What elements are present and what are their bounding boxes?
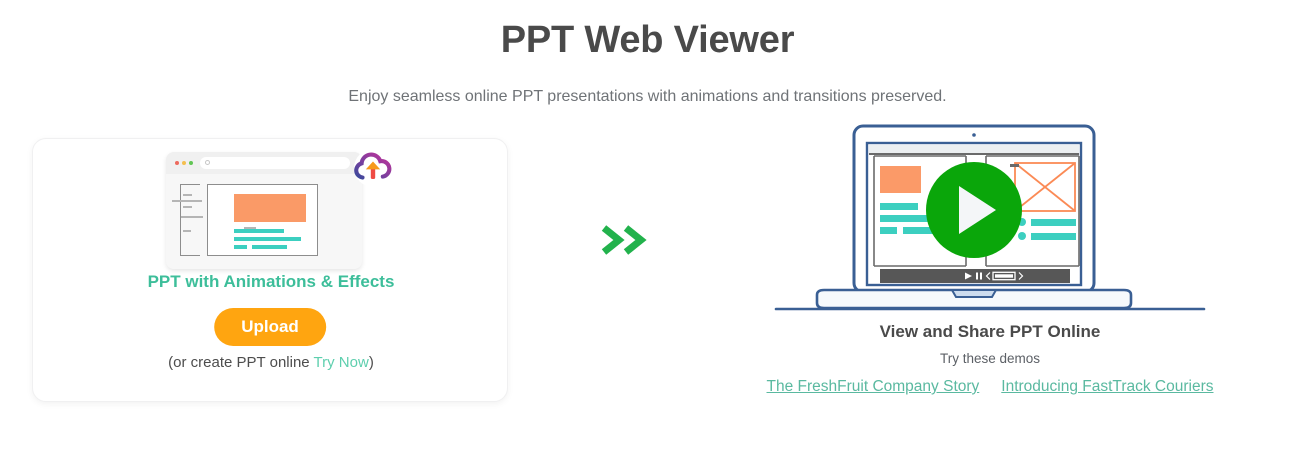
note-prefix: (or create PPT online	[168, 354, 313, 371]
wireframe-tick	[172, 200, 202, 202]
laptop-with-play-button-illustration	[770, 122, 1210, 317]
wireframe-text-line	[252, 245, 287, 249]
browser-reload-icon	[205, 160, 210, 165]
browser-content	[166, 174, 362, 269]
browser-maximize-dot-icon	[189, 161, 193, 165]
cloud-upload-icon	[349, 147, 397, 191]
browser-minimize-dot-icon	[182, 161, 186, 165]
demo-links: The FreshFruit Company Story Introducing…	[700, 378, 1280, 396]
note-suffix: )	[369, 354, 374, 371]
wireframe-tick	[183, 206, 192, 208]
page-title: PPT Web Viewer	[0, 18, 1295, 64]
page-subtitle: Enjoy seamless online PPT presentations …	[0, 86, 1295, 108]
viewer-subtext: Try these demos	[700, 351, 1280, 366]
viewer-heading: View and Share PPT Online	[700, 322, 1280, 342]
slide-image-block	[880, 166, 921, 193]
wireframe-tick	[181, 216, 203, 218]
player-control-bar	[880, 269, 1070, 283]
wireframe-text-line	[234, 245, 247, 249]
viewer-section: View and Share PPT Online Try these demo…	[700, 122, 1280, 412]
create-online-note: (or create PPT online Try Now)	[33, 354, 509, 371]
wireframe-tick	[183, 194, 192, 196]
pause-icon	[976, 273, 978, 280]
wireframe-tick	[183, 230, 191, 232]
try-now-link[interactable]: Try Now	[314, 354, 369, 371]
wireframe-text-line	[234, 237, 301, 241]
browser-frame	[166, 152, 362, 269]
browser-close-dot-icon	[175, 161, 179, 165]
upload-card: PPT with Animations & Effects Upload (or…	[32, 138, 508, 402]
double-chevron-right-icon	[600, 224, 652, 256]
browser-topbar	[166, 152, 362, 174]
wireframe-image-block	[234, 194, 306, 222]
upload-card-heading: PPT with Animations & Effects	[33, 272, 509, 292]
wireframe-slide	[207, 184, 318, 256]
upload-button[interactable]: Upload	[214, 308, 326, 346]
demo-link-freshfruit[interactable]: The FreshFruit Company Story	[767, 378, 980, 396]
wireframe-text-line	[234, 229, 284, 233]
browser-window-illustration	[166, 152, 362, 269]
browser-address-bar	[200, 157, 350, 169]
demo-link-fasttrack[interactable]: Introducing FastTrack Couriers	[1001, 378, 1213, 396]
